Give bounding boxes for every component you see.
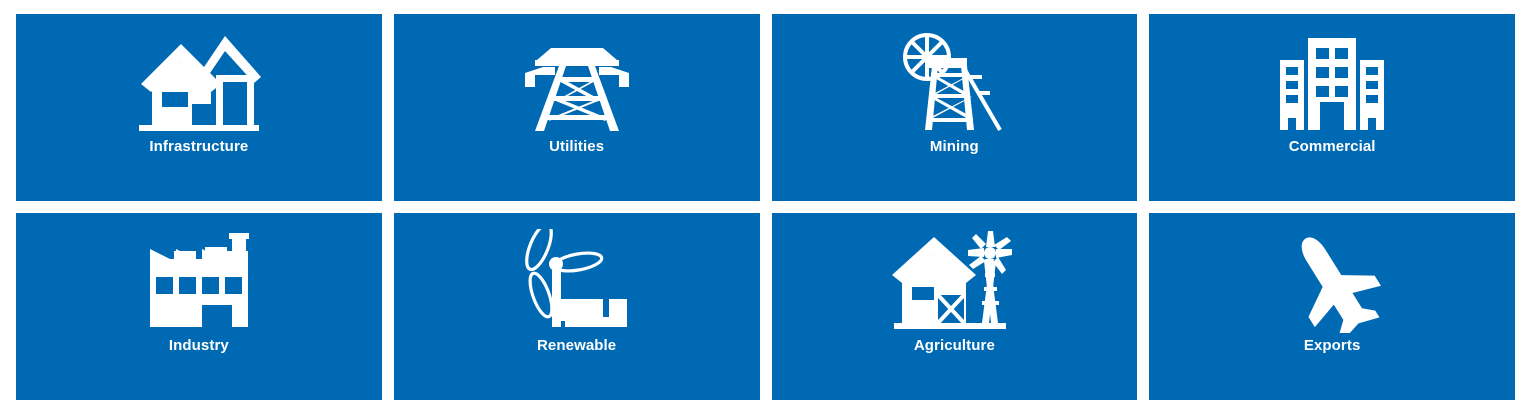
tile-label: Renewable — [537, 337, 616, 355]
tile-exports[interactable]: Exports — [1149, 213, 1515, 400]
tile-label: Exports — [1304, 337, 1361, 355]
airplane-icon — [1277, 229, 1387, 333]
tile-industry[interactable]: Industry — [16, 213, 382, 400]
tile-label: Agriculture — [914, 337, 995, 355]
tile-label: Mining — [930, 138, 979, 156]
tile-grid: Infrastructure — [0, 0, 1529, 415]
tile-renewable[interactable]: Renewable — [394, 213, 760, 400]
factory-icon — [144, 229, 254, 333]
tile-commercial[interactable]: Commercial — [1149, 14, 1515, 201]
farm-barn-windmill-icon — [890, 229, 1018, 333]
house-infrastructure-icon — [137, 30, 261, 134]
office-buildings-icon — [1276, 30, 1388, 134]
tile-infrastructure[interactable]: Infrastructure — [16, 14, 382, 201]
tile-label: Industry — [169, 337, 229, 355]
tile-label: Infrastructure — [149, 138, 248, 156]
power-pylon-icon — [521, 30, 633, 134]
tile-utilities[interactable]: Utilities — [394, 14, 760, 201]
wind-turbine-factory-icon — [521, 229, 633, 333]
tile-agriculture[interactable]: Agriculture — [772, 213, 1138, 400]
tile-mining[interactable]: Mining — [772, 14, 1138, 201]
tile-label: Commercial — [1289, 138, 1376, 156]
tile-label: Utilities — [549, 138, 604, 156]
mine-headframe-icon — [899, 30, 1009, 134]
